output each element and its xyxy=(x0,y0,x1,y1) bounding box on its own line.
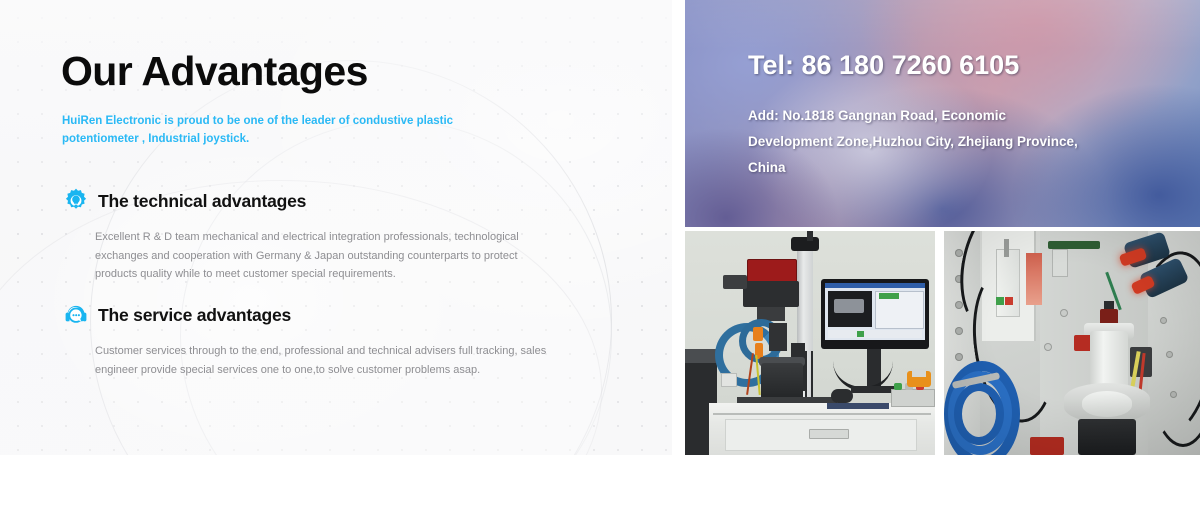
advantages-page: Our Advantages HuiRen Electronic is prou… xyxy=(0,0,1200,505)
intro-paragraph: HuiRen Electronic is proud to be one of … xyxy=(62,112,532,148)
photo-detail xyxy=(685,349,717,363)
photo-detail xyxy=(828,330,922,338)
photo-detail xyxy=(723,275,747,289)
photo-detail xyxy=(809,429,849,439)
feature-technical-advantages: The technical advantages Excellent R & D… xyxy=(62,186,582,284)
feature-header: The service advantages xyxy=(62,300,582,330)
feature-title: The technical advantages xyxy=(98,191,306,212)
feature-description: Customer services through to the end, pr… xyxy=(95,342,560,379)
photo-detail xyxy=(721,373,737,387)
feature-header: The technical advantages xyxy=(62,186,582,216)
photo-detail xyxy=(713,413,931,415)
photo-detail xyxy=(811,351,813,397)
photo-detail xyxy=(891,389,935,407)
photo-vignette xyxy=(944,231,1200,455)
photo-detail xyxy=(857,331,864,337)
address-text: Add: No.1818 Gangnan Road, Economic Deve… xyxy=(748,103,1078,181)
photo-detail xyxy=(834,299,864,313)
industrial-automation-machine-photo xyxy=(944,231,1200,455)
photo-detail xyxy=(791,237,819,251)
photo-detail xyxy=(825,283,925,288)
laser-marking-machine-photo xyxy=(685,231,935,455)
page-title: Our Advantages xyxy=(61,45,368,97)
photo-detail xyxy=(769,323,787,351)
gear-lightbulb-icon xyxy=(62,187,90,215)
photo-detail xyxy=(827,403,889,409)
photo-detail xyxy=(753,327,763,341)
photo-detail xyxy=(747,259,797,283)
photo-detail xyxy=(805,351,807,397)
left-text-content: Our Advantages HuiRen Electronic is prou… xyxy=(0,0,672,455)
photo-detail xyxy=(894,383,902,390)
contact-info-card: Tel: 86 180 7260 6105 Add: No.1818 Gangn… xyxy=(685,0,1200,227)
photo-detail xyxy=(743,281,799,307)
feature-description: Excellent R & D team mechanical and elec… xyxy=(95,228,560,284)
photo-detail xyxy=(831,389,853,403)
photo-detail xyxy=(879,293,899,299)
headset-chat-icon xyxy=(62,301,90,329)
photo-detail xyxy=(807,231,813,241)
telephone-text: Tel: 86 180 7260 6105 xyxy=(748,50,1019,81)
photo-detail xyxy=(912,369,926,377)
feature-service-advantages: The service advantages Customer services… xyxy=(62,300,582,379)
left-content-panel: Our Advantages HuiRen Electronic is prou… xyxy=(0,0,672,455)
feature-title: The service advantages xyxy=(98,305,291,326)
